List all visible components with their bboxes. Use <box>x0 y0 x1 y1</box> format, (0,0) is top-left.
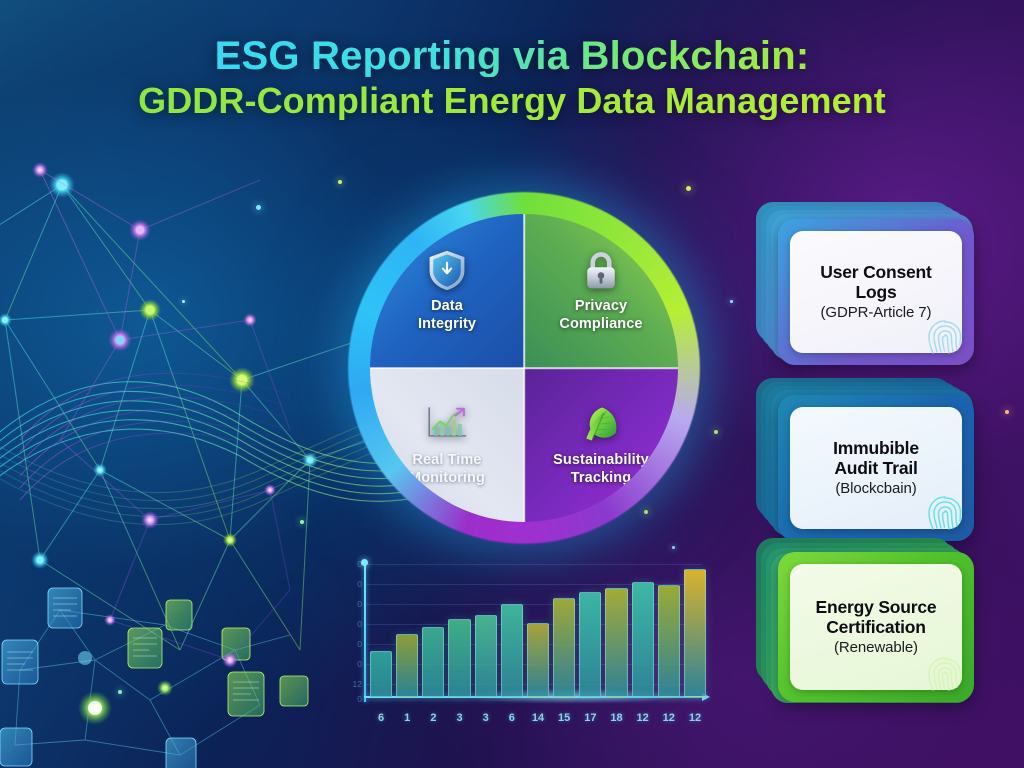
esg-pillars-wheel: DataIntegrity PrivacyCompliance <box>348 192 700 544</box>
quadrant-divider-horizontal <box>370 367 678 369</box>
card-immutable-audit-trail[interactable]: ImmubibleAudit Trail (Blockcbain) <box>756 378 974 536</box>
chart-x-label: 14 <box>527 712 549 724</box>
quadrant-label: SustainabilityTracking <box>553 452 649 487</box>
card-face[interactable]: Energy SourceCertification (Renewable) <box>778 552 974 702</box>
card-subtitle: (GDPR-Article 7) <box>821 304 932 321</box>
chart-x-label: 15 <box>553 712 575 724</box>
leaf-icon <box>579 402 623 446</box>
card-subtitle: (Blockcbain) <box>835 480 916 497</box>
chart-bar <box>448 619 470 697</box>
chart-bar <box>527 623 549 697</box>
chart-x-label: 6 <box>501 712 523 724</box>
card-face[interactable]: ImmubibleAudit Trail (Blockcbain) <box>778 395 974 541</box>
shield-icon <box>425 248 469 292</box>
chart-x-label: 1 <box>396 712 418 724</box>
wheel-inner-disc: DataIntegrity PrivacyCompliance <box>370 214 678 522</box>
card-user-consent-logs[interactable]: User ConsentLogs (GDPR-Article 7) <box>756 202 974 360</box>
quadrant-label: DataIntegrity <box>418 298 476 333</box>
chart-bar <box>658 585 680 697</box>
chart-y-axis-cap <box>361 559 368 566</box>
fingerprint-icon <box>923 491 967 535</box>
chart-x-label: 12 <box>684 712 706 724</box>
chart-x-label: 18 <box>605 712 627 724</box>
title-line-2: GDDR-Compliant Energy Data Management <box>138 82 886 120</box>
chart-bar <box>553 598 575 697</box>
chart-y-axis-labels: 0 0 0 0 0 0 12 0 <box>344 558 362 702</box>
fingerprint-icon <box>923 652 967 696</box>
lock-icon <box>579 248 623 292</box>
chart-x-label: 3 <box>475 712 497 724</box>
chart-x-label: 3 <box>448 712 470 724</box>
network-mesh-right-graphic <box>0 140 300 700</box>
page-title: ESG Reporting via Blockchain: GDDR-Compl… <box>0 36 1024 120</box>
chart-bar <box>475 615 497 698</box>
card-subtitle: (Renewable) <box>834 639 918 656</box>
blockchain-ledger-nodes-graphic <box>0 540 320 768</box>
infographic-canvas: ESG Reporting via Blockchain: GDDR-Compl… <box>0 0 1024 768</box>
quadrant-privacy-compliance[interactable]: PrivacyCompliance <box>524 214 678 368</box>
fingerprint-icon <box>923 315 967 359</box>
chart-y-axis <box>364 562 366 702</box>
chart-bar <box>396 634 418 697</box>
chart-x-label: 2 <box>422 712 444 724</box>
card-energy-source-certification[interactable]: Energy SourceCertification (Renewable) <box>756 538 974 696</box>
card-title: Energy SourceCertification <box>816 598 937 637</box>
chart-x-label: 6 <box>370 712 392 724</box>
chart-x-label: 12 <box>658 712 680 724</box>
chart-bar <box>422 627 444 697</box>
chart-bars <box>370 557 706 697</box>
card-title: ImmubibleAudit Trail <box>833 439 919 478</box>
chart-bar <box>501 604 523 697</box>
chart-x-axis-labels: 61233614151718121212 <box>370 712 706 724</box>
chart-bar <box>684 569 706 697</box>
quadrant-real-time-monitoring[interactable]: Real TimeMonitoring <box>370 368 524 522</box>
esg-metrics-bar-chart: 0 0 0 0 0 0 12 0 61233614151718121212 <box>342 558 710 728</box>
chart-bar <box>605 588 627 697</box>
chart-bar <box>632 582 654 697</box>
chart-x-label: 17 <box>579 712 601 724</box>
chart-bar <box>579 592 601 697</box>
title-line-1: ESG Reporting via Blockchain: <box>215 36 810 77</box>
quadrant-label: Real TimeMonitoring <box>409 452 485 487</box>
quadrant-label: PrivacyCompliance <box>559 298 642 333</box>
quadrant-data-integrity[interactable]: DataIntegrity <box>370 214 524 368</box>
chart-bar <box>370 651 392 697</box>
chart-x-label: 12 <box>632 712 654 724</box>
card-face[interactable]: User ConsentLogs (GDPR-Article 7) <box>778 219 974 365</box>
chart-trend-icon <box>425 402 469 446</box>
card-title: User ConsentLogs <box>820 263 931 302</box>
quadrant-sustainability-tracking[interactable]: SustainabilityTracking <box>524 368 678 522</box>
